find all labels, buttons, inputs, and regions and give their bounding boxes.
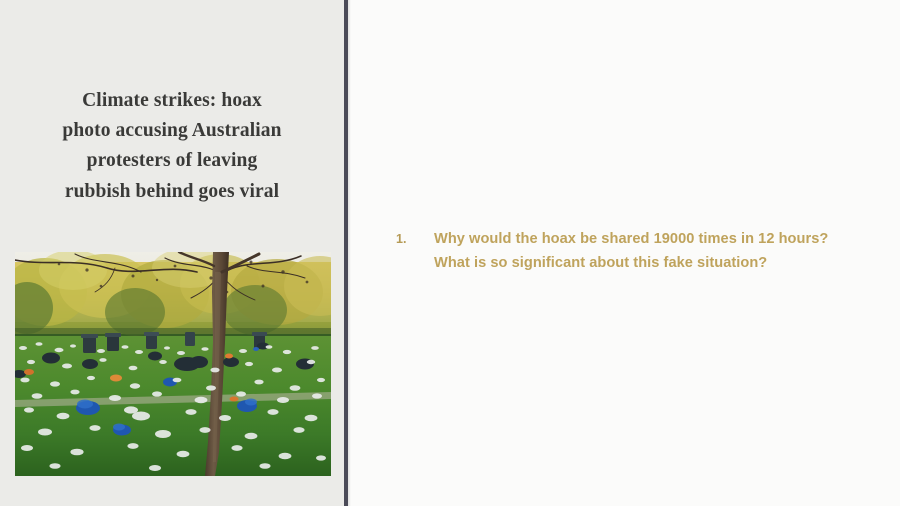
- question-text-1-line-2: What is so significant about this fake s…: [434, 252, 865, 276]
- headline-text: Climate strikes: hoax photo accusing Aus…: [26, 86, 318, 207]
- question-number-1: 1.: [395, 228, 434, 252]
- headline-line-1: Climate strikes: hoax: [26, 86, 318, 116]
- question-list: 1. Why would the hoax be shared 19000 ti…: [395, 228, 865, 275]
- question-item-1: 1. Why would the hoax be shared 19000 ti…: [395, 228, 865, 275]
- presentation-slide: Climate strikes: hoax photo accusing Aus…: [0, 0, 900, 506]
- headline-line-4: rubbish behind goes viral: [26, 177, 318, 207]
- headline-line-3: protesters of leaving: [26, 146, 318, 176]
- question-text-1-line-1: Why would the hoax be shared 19000 times…: [434, 231, 828, 247]
- question-text-1: Why would the hoax be shared 19000 times…: [434, 228, 865, 275]
- left-panel: Climate strikes: hoax photo accusing Aus…: [0, 0, 344, 506]
- litter-park-photo: [15, 252, 331, 476]
- litter-park-photo-graphic: [15, 252, 331, 476]
- headline-line-2: photo accusing Australian: [26, 116, 318, 146]
- right-panel: 1. Why would the hoax be shared 19000 ti…: [351, 0, 900, 506]
